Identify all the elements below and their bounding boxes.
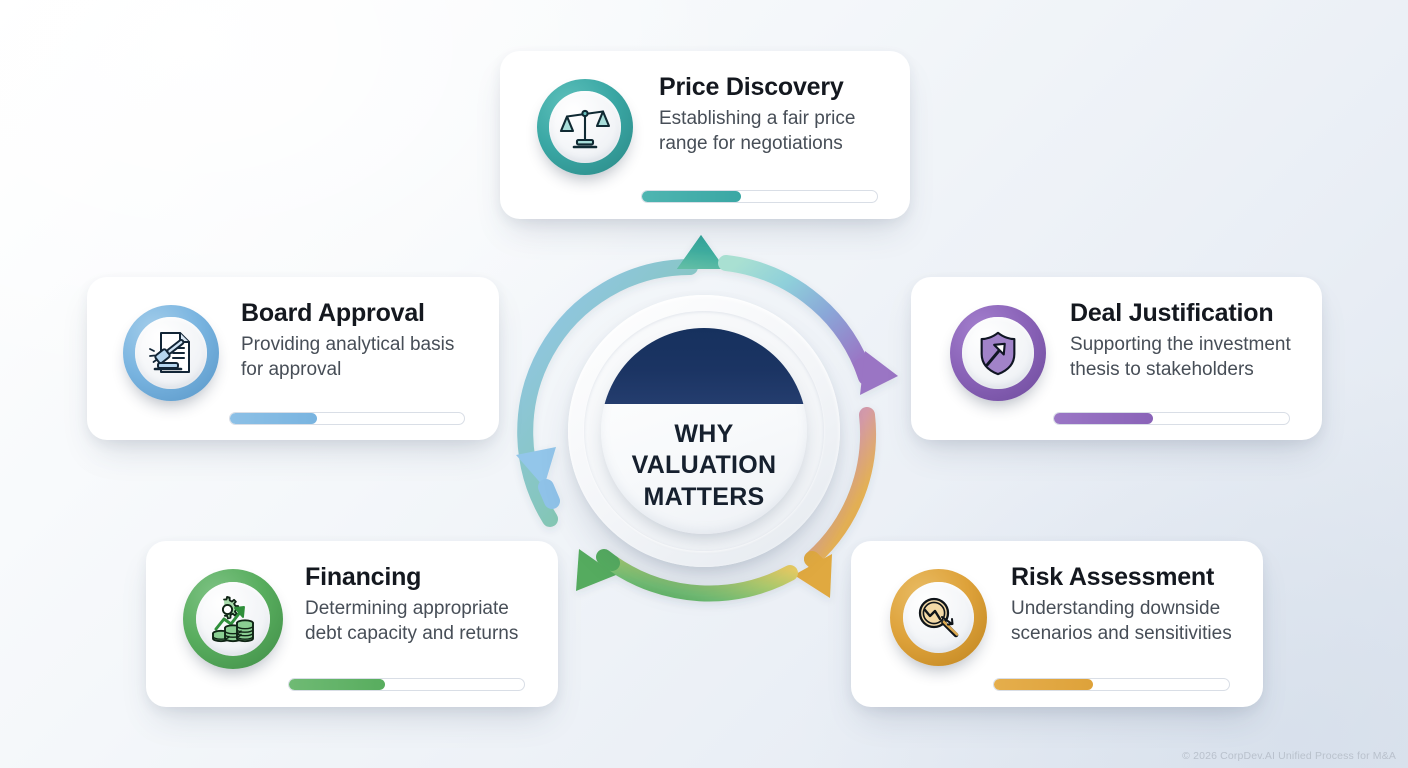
progress-bar-risk-assessment[interactable] [993, 678, 1230, 691]
progress-bar-deal-justification[interactable] [1053, 412, 1290, 425]
card-body: Board Approval Providing analytical basi… [241, 299, 475, 383]
card-board-approval[interactable]: Board Approval Providing analytical basi… [87, 277, 499, 440]
card-body: Risk Assessment Understanding downside s… [1011, 563, 1239, 647]
magnifier-declining-chart-icon [912, 591, 964, 643]
card-description: Establishing a fair price range for nego… [659, 106, 886, 157]
medallion-inner [903, 582, 975, 654]
medallion-inner [135, 317, 206, 388]
progress-fill [994, 679, 1093, 690]
card-body: Price Discovery Establishing a fair pric… [659, 73, 886, 157]
card-deal-justification[interactable]: Deal Justification Supporting the invest… [911, 277, 1322, 440]
progress-bar-financing[interactable] [288, 678, 525, 691]
medallion-deal-justification [950, 305, 1046, 401]
card-description: Determining appropriate debt capacity an… [305, 596, 534, 647]
medallion-inner [196, 582, 270, 656]
card-description: Understanding downside scenarios and sen… [1011, 596, 1239, 647]
card-body: Deal Justification Supporting the invest… [1070, 299, 1298, 383]
card-title: Risk Assessment [1011, 563, 1239, 591]
card-title: Price Discovery [659, 73, 886, 101]
card-description: Providing analytical basis for approval [241, 332, 475, 383]
progress-fill [642, 191, 741, 202]
progress-bar-price-discovery[interactable] [641, 190, 878, 203]
card-price-discovery[interactable]: Price Discovery Establishing a fair pric… [500, 51, 910, 219]
scales-of-justice-icon [559, 101, 611, 153]
card-title: Financing [305, 563, 534, 591]
progress-bar-board-approval[interactable] [229, 412, 465, 425]
hub-core: WHY VALUATION MATTERS [601, 328, 807, 534]
gear-chart-coins-icon [206, 592, 260, 646]
gavel-document-icon [145, 327, 197, 379]
progress-fill [1054, 413, 1153, 424]
medallion-board-approval [123, 305, 219, 401]
card-risk-assessment[interactable]: Risk Assessment Understanding downside s… [851, 541, 1263, 707]
medallion-risk-assessment [890, 569, 987, 666]
card-body: Financing Determining appropriate debt c… [305, 563, 534, 647]
progress-fill [289, 679, 385, 690]
progress-fill [230, 413, 317, 424]
card-description: Supporting the investment thesis to stak… [1070, 332, 1298, 383]
shield-arrow-up-icon [973, 328, 1023, 378]
footer-copyright: © 2026 CorpDev.AI Unified Process for M&… [1182, 750, 1396, 762]
card-title: Board Approval [241, 299, 475, 327]
medallion-price-discovery [537, 79, 633, 175]
card-title: Deal Justification [1070, 299, 1298, 327]
medallion-inner [962, 317, 1033, 388]
infographic-stage: WHY VALUATION MATTERS [0, 0, 1408, 768]
why-valuation-matters-hub: WHY VALUATION MATTERS [568, 295, 840, 567]
card-financing[interactable]: Financing Determining appropriate debt c… [146, 541, 558, 707]
medallion-inner [549, 91, 620, 162]
medallion-financing [183, 569, 283, 669]
